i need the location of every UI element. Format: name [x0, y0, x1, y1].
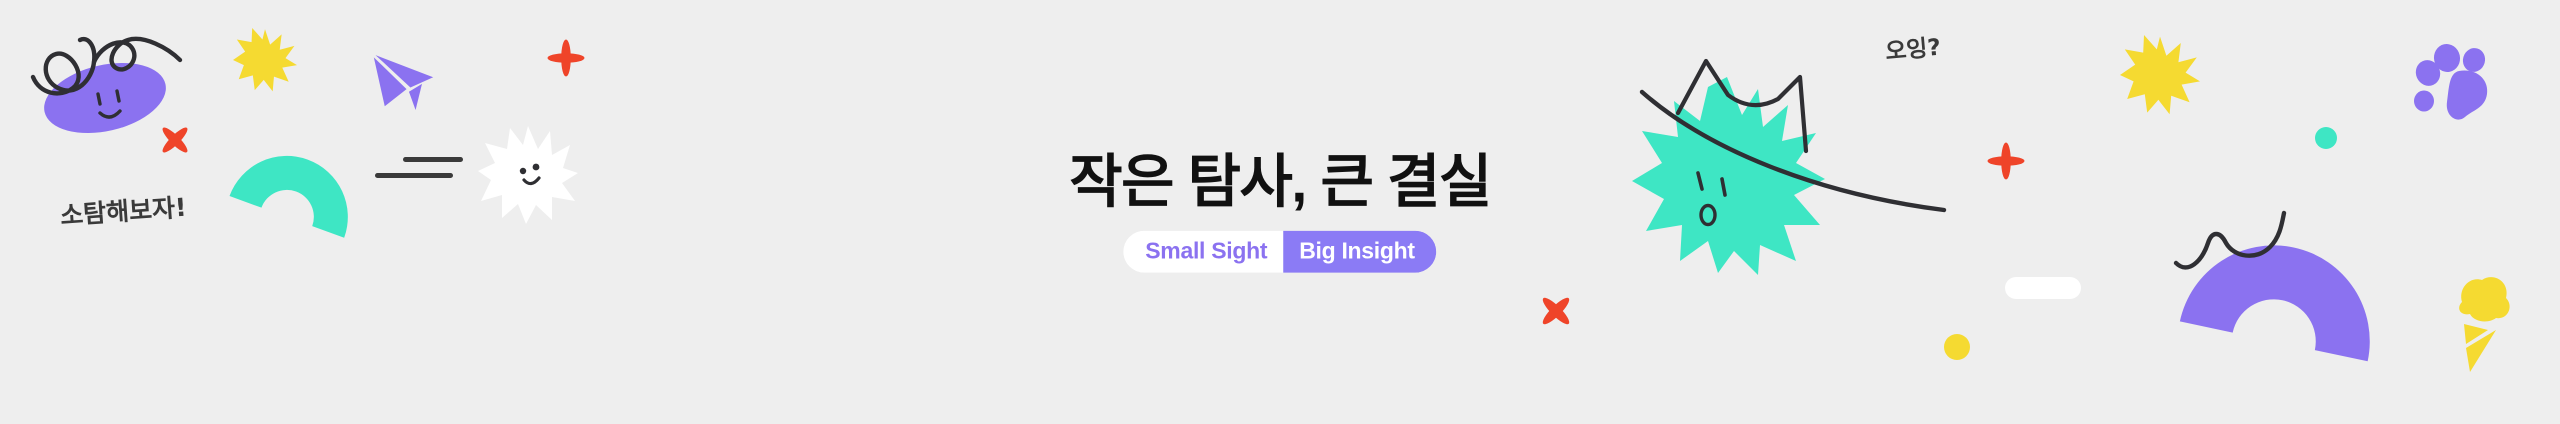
promo-banner: 소탐해보자! — [0, 0, 2560, 424]
badge-small-sight: Small Sight — [1123, 230, 1283, 272]
red-x-icon — [155, 120, 195, 160]
white-pill-icon — [2005, 277, 2081, 299]
dash-lines-icon — [375, 155, 465, 187]
tagline-badge: Small Sight Big Insight — [1123, 230, 1436, 272]
handwritten-note-left: 소탐해보자! — [59, 188, 188, 233]
badge-big-insight: Big Insight — [1283, 230, 1437, 272]
red-plus-icon — [545, 37, 587, 79]
headline-block: 작은 탐사, 큰 결실 Small Sight Big Insight — [1069, 152, 1490, 273]
red-plus-icon — [1985, 140, 2027, 182]
yellow-starburst-icon — [2120, 35, 2200, 115]
ice-cream-cone-icon — [2448, 268, 2518, 378]
teal-dot-icon — [2315, 127, 2337, 149]
wave-line-icon — [2172, 205, 2312, 275]
handwritten-note-right: 오잉? — [1884, 28, 1942, 67]
white-starburst-face-icon — [478, 125, 578, 225]
yellow-starburst-icon — [233, 28, 297, 92]
yellow-dot-icon — [1944, 334, 1970, 360]
scribble-loop-icon — [28, 22, 208, 107]
paper-plane-icon — [372, 45, 442, 125]
red-x-icon — [1535, 290, 1577, 332]
page-title: 작은 탐사, 큰 결실 — [1069, 152, 1490, 215]
swoosh-line-icon — [1638, 88, 1948, 228]
teal-arch-icon — [228, 140, 358, 260]
paw-print-icon — [2415, 40, 2497, 122]
